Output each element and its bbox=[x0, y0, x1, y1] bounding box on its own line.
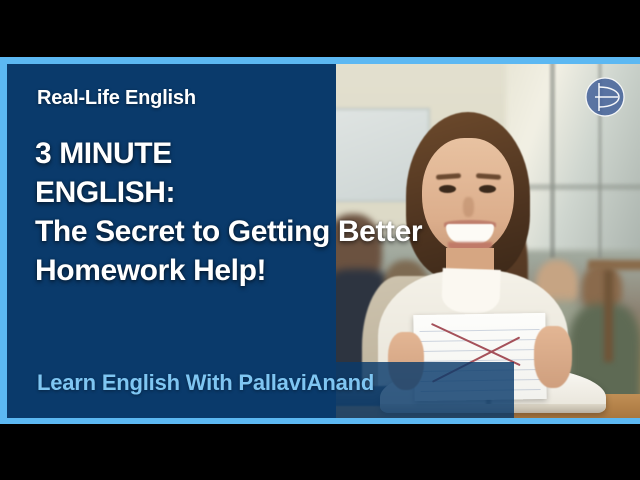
subject-hand bbox=[534, 326, 572, 388]
thumbnail-content: Real-Life English 3 MINUTE ENGLISH: The … bbox=[7, 64, 640, 418]
channel-banner-text: Learn English With PallaviAnand bbox=[37, 370, 374, 396]
channel-logo-icon bbox=[580, 72, 630, 122]
thumbnail-title: 3 MINUTE ENGLISH: The Secret to Getting … bbox=[35, 134, 635, 290]
kicker-label: Real-Life English bbox=[37, 87, 196, 110]
thumbnail-stage: Real-Life English 3 MINUTE ENGLISH: The … bbox=[0, 0, 640, 480]
letterbox-bar-top bbox=[0, 0, 640, 57]
letterbox-bar-bottom bbox=[0, 424, 640, 480]
